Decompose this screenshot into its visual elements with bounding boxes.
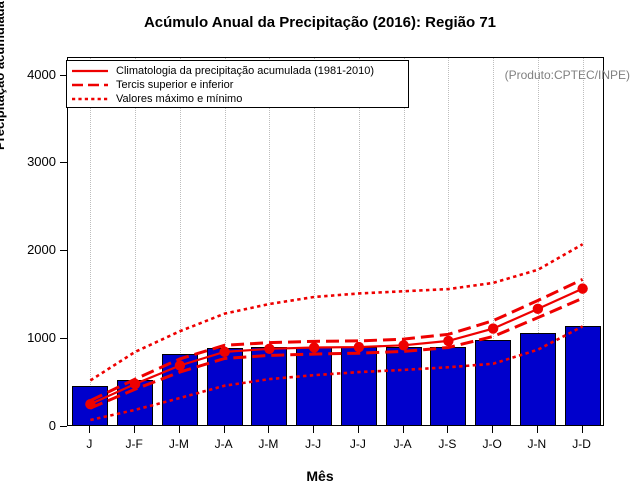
x-tick-mark xyxy=(89,426,90,433)
page-title: Acúmulo Anual da Precipitação (2016): Re… xyxy=(0,14,640,31)
y-tick-mark xyxy=(60,250,67,251)
x-tick-mark xyxy=(179,426,180,433)
bar xyxy=(162,354,198,425)
bar xyxy=(520,333,556,425)
x-tick-mark xyxy=(403,426,404,433)
plot-area xyxy=(67,57,604,426)
x-tick-mark xyxy=(537,426,538,433)
bar xyxy=(72,386,108,425)
y-tick-mark xyxy=(60,338,67,339)
bar xyxy=(251,347,287,425)
x-tick-mark xyxy=(268,426,269,433)
x-tick-mark xyxy=(224,426,225,433)
bar xyxy=(475,340,511,425)
x-tick-mark xyxy=(313,426,314,433)
y-tick-label: 1000 xyxy=(16,331,56,344)
gridline xyxy=(90,58,91,425)
x-tick-mark xyxy=(582,426,583,433)
y-tick-mark xyxy=(60,426,67,427)
x-axis-label: Mês xyxy=(0,468,640,484)
x-tick-mark xyxy=(447,426,448,433)
legend-item-label: Climatologia da precipitação acumulada (… xyxy=(116,65,374,77)
x-tick-mark xyxy=(358,426,359,433)
bar xyxy=(207,348,243,425)
legend-solid-line-icon xyxy=(71,65,109,77)
legend-item: Valores máximo e mínimo xyxy=(71,92,404,106)
y-axis-label: Precipitação acumulada (mm) xyxy=(0,0,7,150)
legend-item-label: Tercis superior e inferior xyxy=(116,79,233,91)
y-tick-label: 4000 xyxy=(16,68,56,81)
legend-item: Climatologia da precipitação acumulada (… xyxy=(71,64,404,78)
bar xyxy=(117,380,153,425)
x-tick-label: J xyxy=(86,437,92,451)
x-tick-label: J-A xyxy=(394,437,412,451)
legend-item: Tercis superior e inferior xyxy=(71,78,404,92)
y-tick-label: 2000 xyxy=(16,243,56,256)
producer-annotation: (Produto:CPTEC/INPE) xyxy=(505,68,630,82)
legend-item-label: Valores máximo e mínimo xyxy=(116,93,242,105)
x-tick-label: J-N xyxy=(528,437,547,451)
x-tick-label: J-F xyxy=(125,437,142,451)
gridline xyxy=(135,58,136,425)
y-tick-mark xyxy=(60,162,67,163)
chart-page: Acúmulo Anual da Precipitação (2016): Re… xyxy=(0,0,640,500)
x-tick-label: J-A xyxy=(215,437,233,451)
legend: Climatologia da precipitação acumulada (… xyxy=(66,60,409,108)
x-tick-label: J-D xyxy=(572,437,591,451)
y-tick-label: 0 xyxy=(16,419,56,432)
x-tick-label: J-O xyxy=(482,437,501,451)
plot-inner xyxy=(68,58,603,425)
legend-dotted-line-icon xyxy=(71,93,109,105)
legend-dashed-line-icon xyxy=(71,79,109,91)
bar xyxy=(430,347,466,425)
bar xyxy=(565,326,601,425)
x-tick-label: J-M xyxy=(258,437,278,451)
x-tick-label: J-J xyxy=(305,437,321,451)
x-tick-mark xyxy=(492,426,493,433)
bar xyxy=(341,347,377,425)
x-tick-mark xyxy=(134,426,135,433)
x-tick-label: J-S xyxy=(438,437,456,451)
bar xyxy=(386,347,422,425)
bar xyxy=(296,347,332,425)
y-tick-label: 3000 xyxy=(16,155,56,168)
x-tick-label: J-M xyxy=(169,437,189,451)
x-tick-label: J-J xyxy=(350,437,366,451)
